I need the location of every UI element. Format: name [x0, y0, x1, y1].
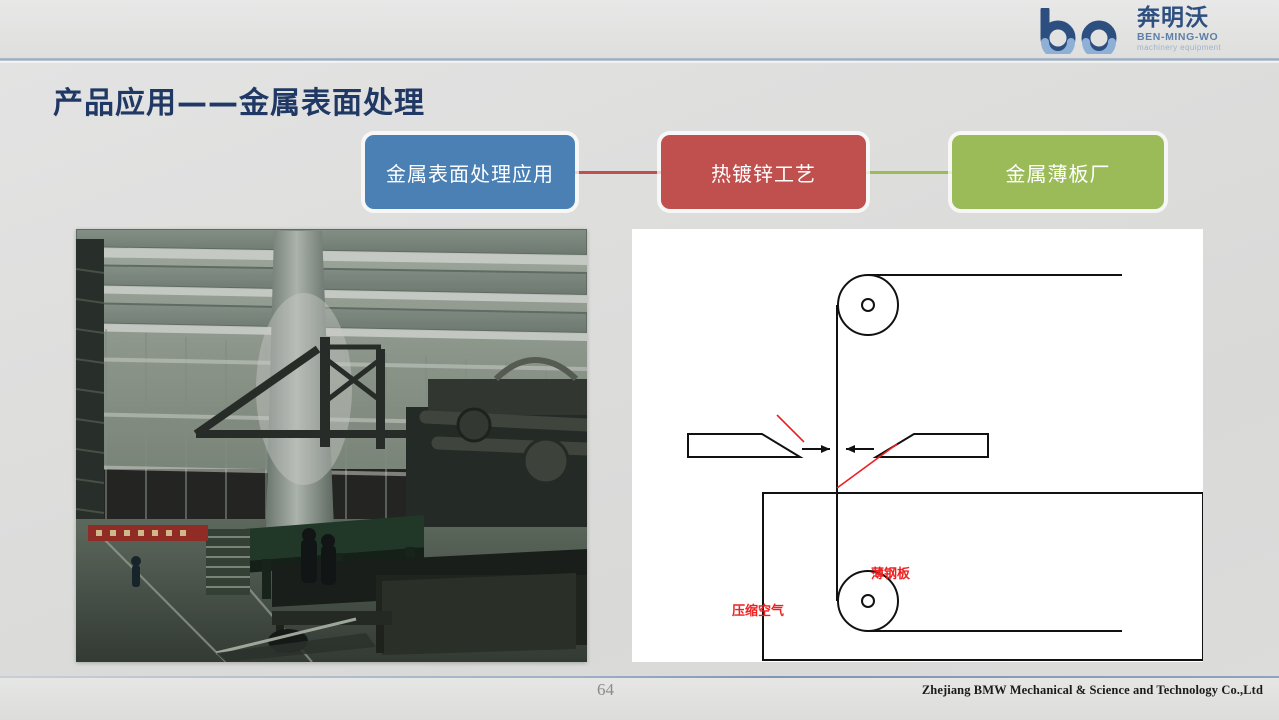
bo-monogram-icon: [1039, 8, 1135, 54]
process-flow: 金属表面处理应用 热镀锌工艺 金属薄板厂: [0, 135, 1279, 215]
flow-box-process[interactable]: 热镀锌工艺: [661, 135, 866, 209]
footer-company-name: Zhejiang BMW Mechanical & Science and Te…: [922, 683, 1263, 698]
page-number: 64: [597, 680, 614, 700]
flow-connector-1: [575, 171, 661, 174]
logo-text: 奔明沃 BEN-MING-WO machinery equipment: [1137, 5, 1263, 53]
flow-box-factory[interactable]: 金属薄板厂: [952, 135, 1164, 209]
company-logo: 奔明沃 BEN-MING-WO machinery equipment: [1033, 4, 1263, 60]
diagram-label-steel-sheet: 薄钢板: [871, 563, 910, 582]
flow-box-application[interactable]: 金属表面处理应用: [365, 135, 575, 209]
air-knife-galvanizing-schematic: 压缩空气 风刀喷嘴 风刀喷嘴 薄钢板 液态锌: [632, 229, 1203, 662]
flow-connector-2: [866, 171, 952, 174]
logo-tagline: machinery equipment: [1137, 43, 1263, 53]
page-title: 产品应用——金属表面处理: [53, 78, 425, 122]
diagram-label-compressed-air: 压缩空气: [732, 600, 784, 619]
header-divider-highlight: [0, 61, 1279, 63]
logo-brand-cn: 奔明沃: [1137, 5, 1263, 31]
hot-dip-galvanizing-plant-photo: [76, 229, 587, 662]
logo-brand-en: BEN-MING-WO: [1137, 31, 1263, 43]
